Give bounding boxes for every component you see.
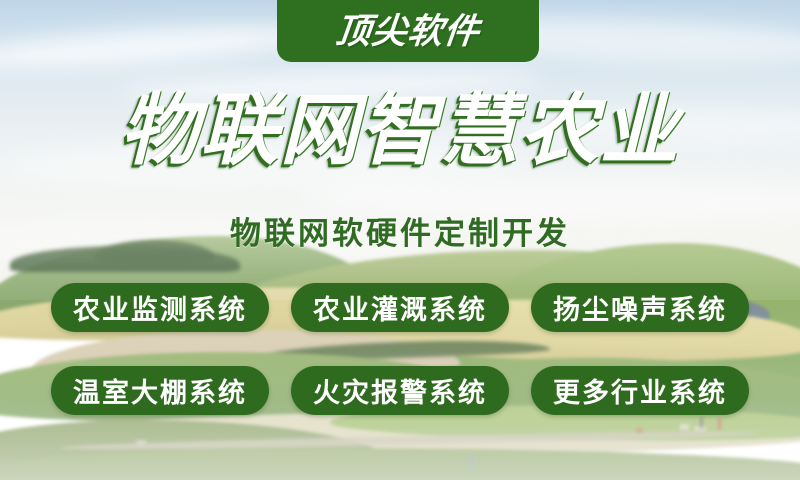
brand-badge[interactable]: 顶尖软件 — [277, 0, 539, 62]
system-pill-greenhouse[interactable]: 温室大棚系统 — [51, 366, 269, 415]
system-category-row: 农业监测系统 农业灌溉系统 扬尘噪声系统 — [0, 283, 800, 332]
system-pill-label: 火灾报警系统 — [313, 371, 487, 410]
system-pill-dust-noise[interactable]: 扬尘噪声系统 — [531, 283, 749, 332]
system-pill-label: 温室大棚系统 — [73, 371, 247, 410]
system-pill-more-industries[interactable]: 更多行业系统 — [531, 366, 749, 415]
brand-badge-label: 顶尖软件 — [333, 3, 482, 54]
system-pill-label: 农业灌溉系统 — [313, 288, 487, 327]
banner-content: 顶尖软件 物联网智慧农业 物联网软硬件定制开发 农业监测系统 农业灌溉系统 扬尘… — [0, 0, 800, 480]
system-pill-fire-alarm[interactable]: 火灾报警系统 — [291, 366, 509, 415]
system-pill-label: 更多行业系统 — [553, 371, 727, 410]
promo-banner: 顶尖软件 物联网智慧农业 物联网软硬件定制开发 农业监测系统 农业灌溉系统 扬尘… — [0, 0, 800, 480]
system-category-list: 农业监测系统 农业灌溉系统 扬尘噪声系统 温室大棚系统 火灾报警系统 更多行业系… — [0, 283, 800, 449]
system-category-row: 温室大棚系统 火灾报警系统 更多行业系统 — [0, 366, 800, 415]
page-title: 物联网智慧农业 — [0, 92, 800, 170]
system-pill-label: 农业监测系统 — [73, 288, 247, 327]
system-pill-agriculture-monitoring[interactable]: 农业监测系统 — [51, 283, 269, 332]
system-pill-label: 扬尘噪声系统 — [553, 288, 727, 327]
page-subtitle: 物联网软硬件定制开发 — [0, 208, 800, 253]
system-pill-agriculture-irrigation[interactable]: 农业灌溉系统 — [291, 283, 509, 332]
